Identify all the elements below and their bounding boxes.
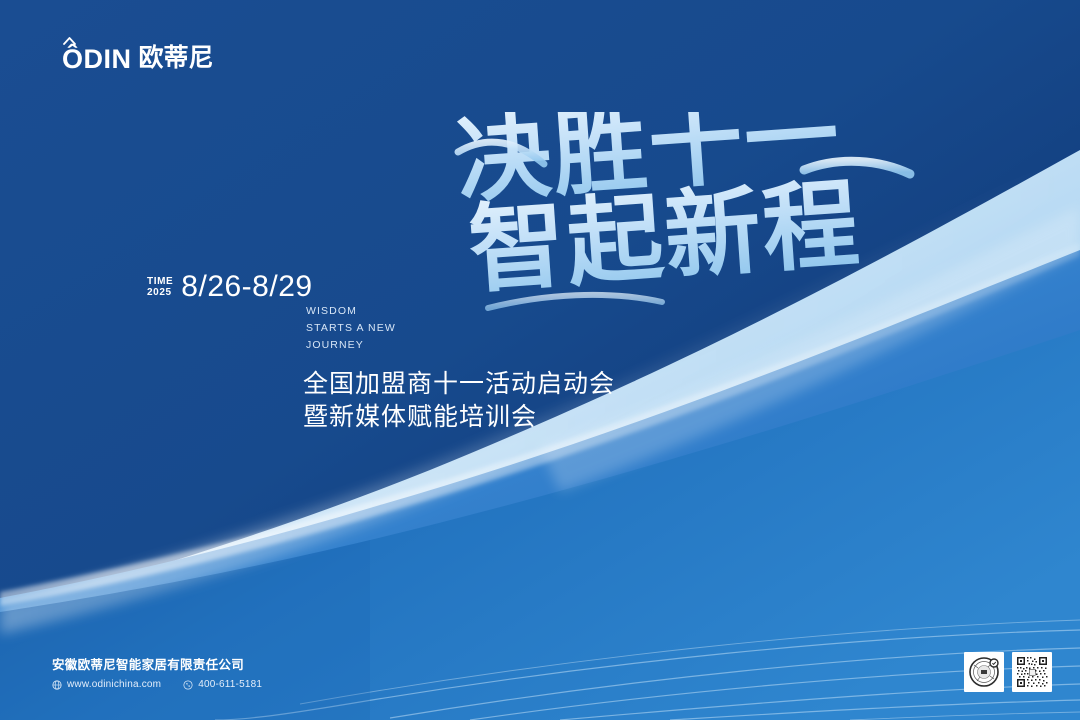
website-text: www.odinichina.com (67, 679, 161, 690)
subtitle-line-2: 暨新媒体赋能培训会 (303, 401, 615, 434)
event-subtitle: 全国加盟商十一活动启动会 暨新媒体赋能培训会 (303, 368, 615, 434)
headline-calligraphy: 决胜十一 智起新程 (448, 112, 918, 337)
english-tagline: WISDOM STARTS A NEW JOURNEY (306, 303, 396, 354)
website-item[interactable]: www.odinichina.com (52, 679, 161, 690)
tagline-line-1: WISDOM (306, 303, 396, 320)
date-tag-year: 2025 (147, 287, 173, 298)
logo-mark-prefix: Ô (62, 44, 84, 74)
qr-code-group (964, 652, 1052, 692)
globe-icon (52, 680, 62, 690)
tagline-line-2: STARTS A NEW (306, 320, 396, 337)
circumflex-accent-icon (63, 37, 76, 45)
wechat-official-account-qr[interactable] (964, 652, 1004, 692)
footer: 安徽欧蒂尼智能家居有限责任公司 www.odinichina.com 400-6… (52, 654, 262, 690)
subtitle-line-1: 全国加盟商十一活动启动会 (303, 368, 615, 401)
logo-wordmark: ÔDIN (62, 44, 132, 73)
logo-mark-text: DIN (84, 44, 132, 74)
background-artwork (0, 0, 1080, 720)
tagline-line-3: JOURNEY (306, 337, 396, 354)
date-range: 8/26-8/29 (181, 272, 312, 302)
phone-text: 400-611-5181 (198, 679, 262, 690)
date-tag: TIME 2025 (147, 276, 173, 302)
contact-row: www.odinichina.com 400-611-5181 (52, 679, 262, 690)
date-tag-time: TIME (147, 276, 173, 287)
event-date: TIME 2025 8/26-8/29 (147, 272, 313, 302)
event-poster: ÔDIN 欧蒂尼 决胜十一 智起新程 TIME 2025 (0, 0, 1080, 720)
company-name: 安徽欧蒂尼智能家居有限责任公司 (52, 654, 262, 673)
phone-icon (183, 680, 193, 690)
phone-item[interactable]: 400-611-5181 (183, 679, 262, 690)
logo-chinese-name: 欧蒂尼 (139, 46, 214, 71)
wechat-mini-program-qr[interactable] (1012, 652, 1052, 692)
brand-logo: ÔDIN 欧蒂尼 (62, 44, 214, 73)
